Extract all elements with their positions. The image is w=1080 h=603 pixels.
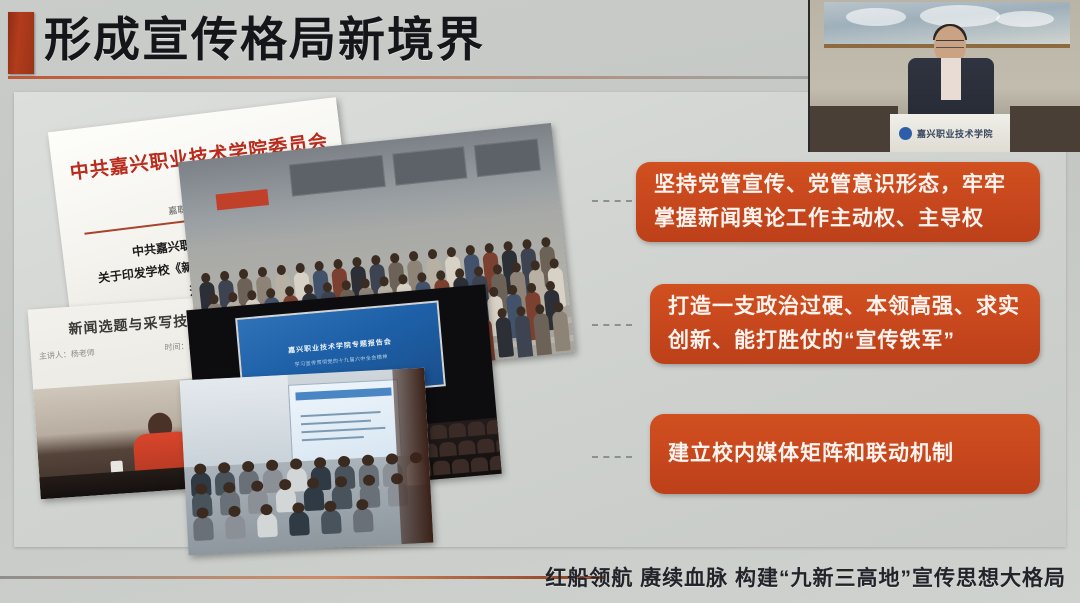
audience-seat — [448, 423, 466, 438]
classroom-student — [257, 513, 278, 538]
audience-seat — [432, 460, 450, 475]
speaker-shirt — [941, 58, 961, 100]
audience-seat — [477, 438, 495, 453]
connector-line-1 — [592, 200, 632, 202]
building-banner — [216, 189, 269, 210]
institution-logo-icon — [899, 127, 912, 140]
footer-divider — [0, 576, 604, 579]
speaker-video-overlay[interactable]: 嘉兴职业技术学院 — [808, 0, 1080, 152]
audience-seat — [470, 457, 488, 472]
podium-nameplate: 嘉兴职业技术学院 — [890, 114, 1010, 152]
connector-line-3 — [592, 456, 632, 458]
page-title: 形成宣传格局新境界 — [44, 8, 485, 72]
slide-content-panel: 中共嘉兴职业技术学院委员会 嘉职院党〔2021〕39 号 中共嘉兴职业技术学院委… — [14, 92, 1066, 547]
projection-line — [301, 411, 381, 417]
projection-line — [301, 420, 371, 426]
painting-cloud — [846, 8, 906, 26]
nameplate-text: 嘉兴职业技术学院 — [917, 127, 993, 140]
presentation-slide: 形成宣传格局新境界 中共嘉兴职业技术学院委员会 嘉职院党〔2021〕39 号 中… — [0, 0, 1080, 603]
title-accent-bar — [8, 12, 34, 74]
callout-box-3: 建立校内媒体矩阵和联动机制 — [650, 414, 1040, 494]
building-window — [392, 146, 467, 185]
classroom-student — [193, 516, 214, 541]
building-window — [474, 139, 541, 178]
classroom-student — [303, 486, 324, 511]
classroom-student — [289, 511, 310, 536]
classroom-desks — [184, 455, 433, 556]
classroom-student — [321, 509, 342, 534]
video-foreground-left — [810, 106, 898, 152]
building-window — [289, 155, 386, 197]
audience-seat — [467, 421, 485, 436]
audience-seat — [486, 419, 502, 434]
footer-slogan: 红船领航 赓续血脉 构建“九新三高地”宣传思想大格局 — [545, 562, 1066, 592]
classroom-projection — [288, 379, 402, 463]
connector-line-2 — [592, 324, 632, 326]
callout-box-1: 坚持党管宣传、党管意识形态，牢牢掌握新闻舆论工作主动权、主导权 — [636, 162, 1040, 242]
classroom-wall — [180, 375, 293, 473]
audience-seat — [439, 441, 457, 456]
callout-box-2: 打造一支政治过硬、本领高强、求实创新、能打胜仗的“宣传铁军” — [650, 284, 1040, 364]
glasses-icon — [936, 40, 964, 48]
painting-cloud — [996, 11, 1054, 27]
classroom-student — [225, 514, 246, 539]
audience-seat — [489, 455, 502, 470]
lecture-presenter: 主讲人：杨老师 — [39, 347, 96, 362]
projection-line — [302, 436, 364, 441]
audience-seat — [451, 458, 469, 473]
projection-header — [295, 387, 391, 400]
audience-seat — [458, 440, 476, 455]
audience-seat — [429, 424, 447, 439]
video-foreground-right — [1010, 106, 1080, 152]
photo-classroom-training — [180, 368, 434, 556]
audience-seat — [496, 436, 502, 451]
projection-line — [301, 427, 385, 433]
slide-footer: 红船领航 赓续血脉 构建“九新三高地”宣传思想大格局 — [0, 556, 1080, 603]
classroom-student — [353, 508, 374, 533]
painting-cloud — [920, 5, 1000, 27]
